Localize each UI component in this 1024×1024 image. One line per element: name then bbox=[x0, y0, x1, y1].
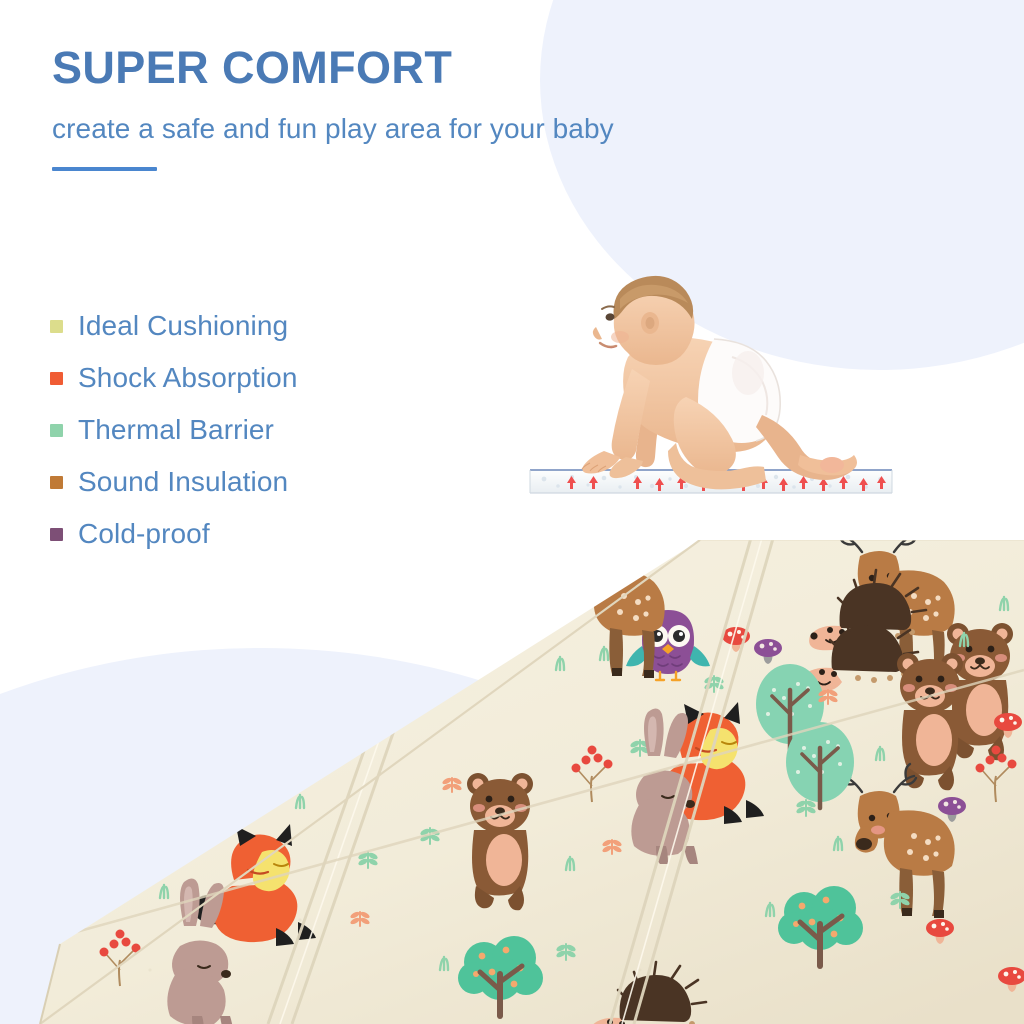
feature-label: Cold-proof bbox=[78, 518, 210, 550]
page-subtitle: create a safe and fun play area for your… bbox=[52, 113, 614, 145]
feature-label: Ideal Cushioning bbox=[78, 310, 288, 342]
baby-crawling-photo bbox=[500, 265, 920, 520]
promo-banner: SUPER COMFORT create a safe and fun play… bbox=[0, 0, 1024, 1024]
list-item: Ideal Cushioning bbox=[50, 300, 298, 352]
feature-label: Shock Absorption bbox=[78, 362, 298, 394]
list-item: Cold-proof bbox=[50, 508, 298, 560]
bullet-square-icon bbox=[50, 528, 63, 541]
bullet-square-icon bbox=[50, 320, 63, 333]
baby-figure bbox=[582, 276, 857, 489]
feature-list: Ideal Cushioning Shock Absorption Therma… bbox=[50, 300, 298, 560]
header: SUPER COMFORT create a safe and fun play… bbox=[52, 44, 614, 171]
bullet-square-icon bbox=[50, 476, 63, 489]
list-item: Thermal Barrier bbox=[50, 404, 298, 456]
mat-surface bbox=[0, 540, 1024, 1024]
list-item: Sound Insulation bbox=[50, 456, 298, 508]
play-mat-product-photo bbox=[0, 540, 1024, 1024]
bullet-square-icon bbox=[50, 372, 63, 385]
bullet-square-icon bbox=[50, 424, 63, 437]
list-item: Shock Absorption bbox=[50, 352, 298, 404]
accent-rule bbox=[52, 167, 157, 171]
page-title: SUPER COMFORT bbox=[52, 44, 614, 91]
feature-label: Sound Insulation bbox=[78, 466, 288, 498]
feature-label: Thermal Barrier bbox=[78, 414, 274, 446]
